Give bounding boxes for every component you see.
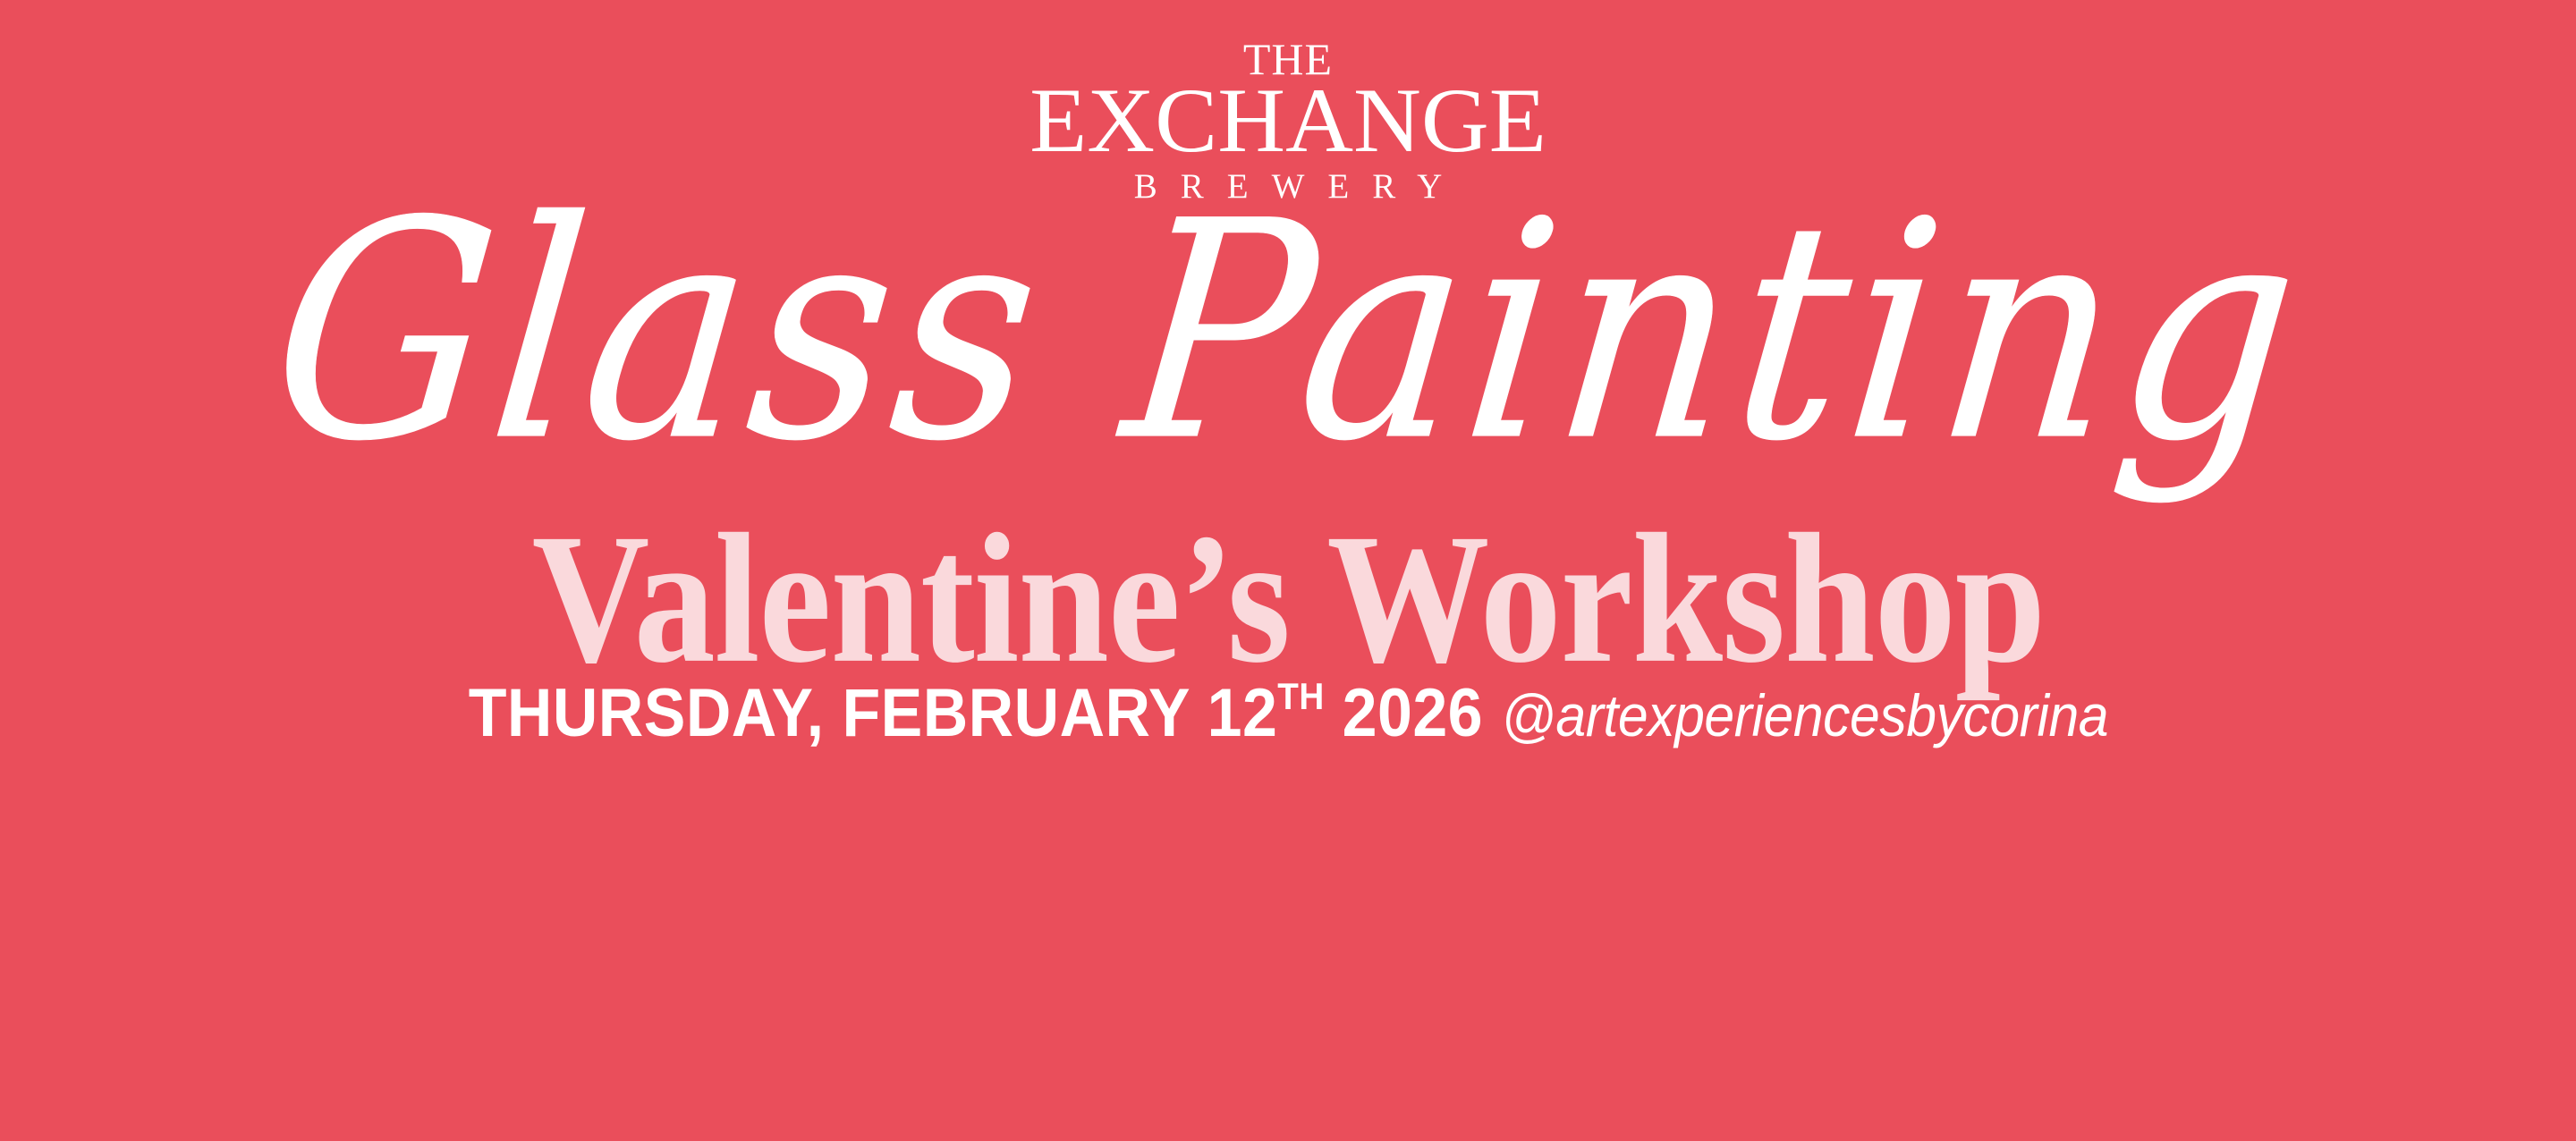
- event-poster: THE EXCHANGE BREWERY Glass Painting Vale…: [0, 0, 2576, 1141]
- headline-script: Glass Painting: [261, 182, 2314, 483]
- event-year: 2026: [1324, 675, 1482, 751]
- event-details-row: THURSDAY, FEBRUARY 12TH 2026@artexperien…: [0, 680, 2576, 748]
- logo-line-exchange: EXCHANGE: [0, 79, 2576, 164]
- headline-subhead: Valentine’s Workshop: [531, 506, 2045, 692]
- event-date: THURSDAY, FEBRUARY 12: [468, 675, 1277, 751]
- headline-subhead-row: Valentine’s Workshop: [0, 511, 2576, 687]
- instagram-handle: @artexperiencesbycorina: [1501, 682, 2108, 748]
- event-date-ordinal: TH: [1277, 675, 1324, 717]
- event-details-inner: THURSDAY, FEBRUARY 12TH 2026@artexperien…: [468, 680, 2107, 748]
- headline-script-row: Glass Painting: [0, 199, 2576, 467]
